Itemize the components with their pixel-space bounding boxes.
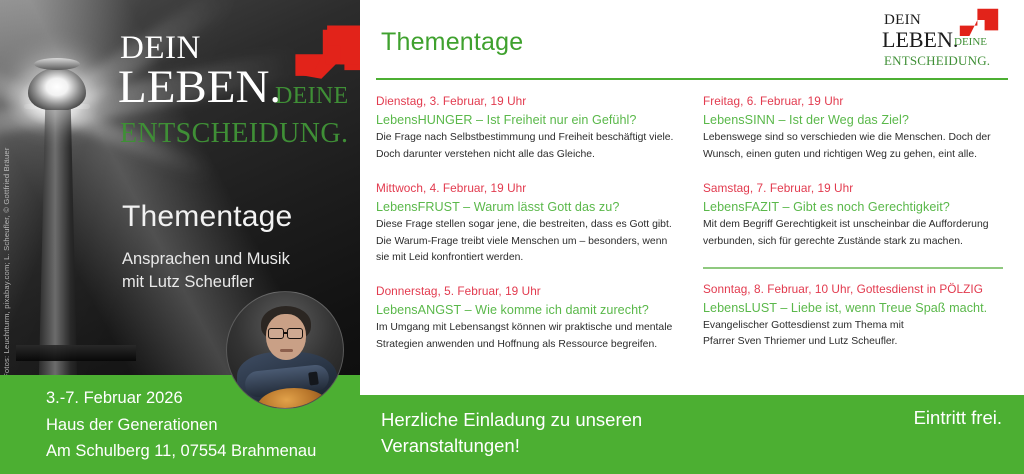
event-title: LebensANGST – Wie komme ich damit zurech… bbox=[376, 303, 685, 317]
event-item[interactable]: Samstag, 7. Februar, 19 Uhr LebensFAZIT … bbox=[703, 181, 1012, 251]
portrait-watch bbox=[308, 371, 319, 385]
footer-banner: Herzliche Einladung zu unseren Veranstal… bbox=[360, 395, 1024, 474]
brand-line-leben: LEBEN. bbox=[118, 64, 281, 111]
event-address: Am Schulberg 11, 07554 Brahmenau bbox=[46, 438, 316, 465]
red-arrow-icon bbox=[958, 8, 1000, 48]
event-desc-line: sie mit Leid konfrontiert werden. bbox=[376, 250, 685, 267]
event-title: LebensFRUST – Warum lässt Gott das zu? bbox=[376, 200, 685, 214]
title-divider bbox=[376, 78, 1008, 80]
brand-logo-small: DEIN LEBEN. DEINE ENTSCHEIDUNG. bbox=[854, 8, 1004, 74]
footer-invite-line-2: Veranstaltungen! bbox=[381, 433, 642, 459]
event-desc-line: Im Umgang mit Lebensangst können wir pra… bbox=[376, 320, 685, 337]
event-date: Dienstag, 3. Februar, 19 Uhr bbox=[376, 94, 685, 108]
event-desc-line: Wunsch, einen guten und richtigen Weg zu… bbox=[703, 147, 1012, 164]
event-desc-line: Evangelischer Gottesdienst zum Thema mit bbox=[703, 318, 1012, 335]
lighthouse-lamp bbox=[28, 68, 86, 110]
event-description: Mit dem Begriff Gerechtigkeit ist unsche… bbox=[703, 217, 1012, 251]
footer-invite-line-1: Herzliche Einladung zu unseren bbox=[381, 407, 642, 433]
red-arrow-icon bbox=[292, 24, 360, 96]
event-description: Diese Frage stellen sogar jene, die best… bbox=[376, 217, 685, 268]
page-title: Thementage bbox=[381, 28, 523, 57]
event-date: Sonntag, 8. Februar, 10 Uhr, Gottesdiens… bbox=[703, 282, 1012, 296]
event-title: LebensHUNGER – Ist Freiheit nur ein Gefü… bbox=[376, 113, 685, 127]
left-subline-1: Ansprachen und Musik bbox=[122, 248, 290, 271]
event-desc-line: Mit dem Begriff Gerechtigkeit ist unsche… bbox=[703, 217, 1012, 234]
portrait-glasses-bridge bbox=[283, 332, 288, 334]
event-item[interactable]: Mittwoch, 4. Februar, 19 Uhr LebensFRUST… bbox=[376, 181, 685, 268]
event-desc-line: Pfarrer Sven Thriemer und Lutz Scheufler… bbox=[703, 334, 1012, 351]
event-item[interactable]: Dienstag, 3. Februar, 19 Uhr LebensHUNGE… bbox=[376, 94, 685, 164]
lighthouse-base bbox=[16, 345, 136, 361]
event-date: Freitag, 6. Februar, 19 Uhr bbox=[703, 94, 1012, 108]
event-desc-line: Lebenswege sind so verschieden wie die M… bbox=[703, 130, 1012, 147]
event-item[interactable]: Freitag, 6. Februar, 19 Uhr LebensSINN –… bbox=[703, 94, 1012, 164]
event-desc-line: Doch darunter verstehen nicht alle das G… bbox=[376, 147, 685, 164]
events-column-left: Dienstag, 3. Februar, 19 Uhr LebensHUNGE… bbox=[376, 94, 685, 371]
event-description: Evangelischer Gottesdienst zum Thema mit… bbox=[703, 318, 1012, 352]
brand-line-entscheidung: ENTSCHEIDUNG. bbox=[120, 120, 348, 148]
event-date: Samstag, 7. Februar, 19 Uhr bbox=[703, 181, 1012, 195]
event-title: LebensLUST – Liebe ist, wenn Treue Spaß … bbox=[703, 301, 1012, 315]
event-description: Die Frage nach Selbstbestimmung und Frei… bbox=[376, 130, 685, 164]
event-desc-line: Strategien anwenden und Hoffnung als Res… bbox=[376, 337, 685, 354]
left-photo-panel: Fotos: Leuchtturm, pixabay.com; L. Scheu… bbox=[0, 0, 360, 474]
lighthouse-cap bbox=[34, 58, 80, 70]
events-columns: Dienstag, 3. Februar, 19 Uhr LebensHUNGE… bbox=[376, 94, 1012, 371]
brand-logo-dark: DEIN LEBEN. DEINE ENTSCHEIDUNG. bbox=[112, 22, 352, 162]
portrait-glasses-left bbox=[268, 328, 284, 339]
event-desc-line: Diese Frage stellen sogar jene, die best… bbox=[376, 217, 685, 234]
event-title: LebensSINN – Ist der Weg das Ziel? bbox=[703, 113, 1012, 127]
event-venue: Haus der Generationen bbox=[46, 412, 316, 439]
event-date: Mittwoch, 4. Februar, 19 Uhr bbox=[376, 181, 685, 195]
event-item[interactable]: Sonntag, 8. Februar, 10 Uhr, Gottesdiens… bbox=[703, 282, 1012, 352]
event-flyer: Fotos: Leuchtturm, pixabay.com; L. Scheu… bbox=[0, 0, 1024, 474]
event-title: LebensFAZIT – Gibt es noch Gerechtigkeit… bbox=[703, 200, 1012, 214]
portrait-mouth bbox=[280, 349, 293, 352]
footer-invitation: Herzliche Einladung zu unseren Veranstal… bbox=[381, 407, 642, 460]
speaker-portrait-avatar bbox=[226, 291, 344, 409]
event-desc-line: verbunden, sich für gerechte Zustände st… bbox=[703, 234, 1012, 251]
event-desc-line: Die Frage nach Selbstbestimmung und Frei… bbox=[376, 130, 685, 147]
left-subline-2: mit Lutz Scheufler bbox=[122, 271, 290, 294]
event-desc-line: Die Warum-Frage treibt viele Menschen um… bbox=[376, 234, 685, 251]
left-subheadline: Ansprachen und Musik mit Lutz Scheufler bbox=[122, 248, 290, 295]
brand-small-line-leben: LEBEN. bbox=[882, 27, 958, 53]
event-item[interactable]: Donnerstag, 5. Februar, 19 Uhr LebensANG… bbox=[376, 284, 685, 354]
portrait-glasses-right bbox=[287, 328, 303, 339]
event-date: Donnerstag, 5. Februar, 19 Uhr bbox=[376, 284, 685, 298]
event-description: Im Umgang mit Lebensangst können wir pra… bbox=[376, 320, 685, 354]
brand-small-line-entscheidung: ENTSCHEIDUNG. bbox=[884, 53, 990, 69]
events-column-right: Freitag, 6. Februar, 19 Uhr LebensSINN –… bbox=[703, 94, 1012, 371]
events-separator bbox=[703, 267, 1003, 268]
footer-free-entry: Eintritt frei. bbox=[914, 407, 1002, 429]
event-description: Lebenswege sind so verschieden wie die M… bbox=[703, 130, 1012, 164]
left-headline: Thementage bbox=[122, 200, 292, 234]
